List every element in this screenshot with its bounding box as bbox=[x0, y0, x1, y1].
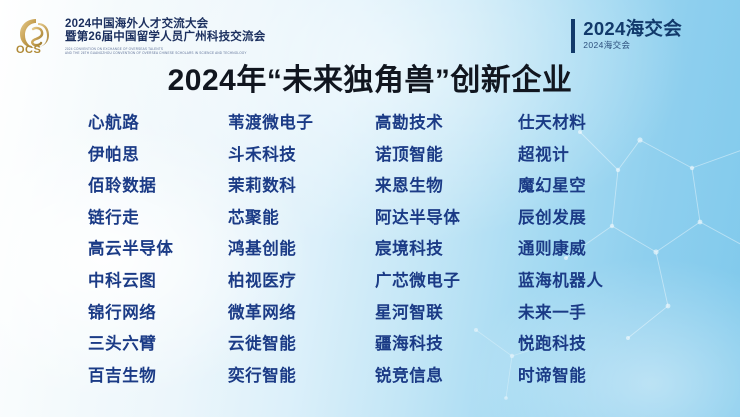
company-name: 超视计 bbox=[518, 140, 700, 172]
company-name: 蓝海机器人 bbox=[518, 266, 700, 298]
company-name: 奕行智能 bbox=[228, 361, 375, 393]
brand-title: 2024海交会 bbox=[583, 18, 682, 39]
event-logo: OCS 2024中国海外人才交流大会 暨第26届中国留学人员广州科技交流会 20… bbox=[16, 17, 265, 56]
company-name: 宸境科技 bbox=[375, 234, 518, 266]
logo-line-1: 2024中国海外人才交流大会 bbox=[65, 18, 265, 31]
company-name: 锦行网络 bbox=[88, 298, 228, 330]
company-name: 时谛智能 bbox=[518, 361, 700, 393]
company-name: 疆海科技 bbox=[375, 329, 518, 361]
company-name: 心航路 bbox=[88, 108, 228, 140]
company-name: 高勘技术 bbox=[375, 108, 518, 140]
company-name: 佰聆数据 bbox=[88, 171, 228, 203]
company-name: 未来一手 bbox=[518, 298, 700, 330]
slide-header: OCS 2024中国海外人才交流大会 暨第26届中国留学人员广州科技交流会 20… bbox=[0, 0, 740, 60]
company-name: 悦跑科技 bbox=[518, 329, 700, 361]
company-name: 斗禾科技 bbox=[228, 140, 375, 172]
company-name: 来恩生物 bbox=[375, 171, 518, 203]
logo-acronym: OCS bbox=[16, 44, 41, 56]
brand-subtitle: 2024海交会 bbox=[583, 39, 682, 51]
company-name: 三头六臂 bbox=[88, 329, 228, 361]
logo-text-block: 2024中国海外人才交流大会 暨第26届中国留学人员广州科技交流会 2024 C… bbox=[65, 17, 265, 56]
company-name: 仕天材料 bbox=[518, 108, 700, 140]
company-name: 阿达半导体 bbox=[375, 203, 518, 235]
company-name: 中科云图 bbox=[88, 266, 228, 298]
company-name: 鸿基创能 bbox=[228, 234, 375, 266]
company-name: 链行走 bbox=[88, 203, 228, 235]
company-name: 锐竞信息 bbox=[375, 361, 518, 393]
logo-line-2: 暨第26届中国留学人员广州科技交流会 bbox=[65, 31, 265, 44]
slide-canvas: OCS 2024中国海外人才交流大会 暨第26届中国留学人员广州科技交流会 20… bbox=[0, 0, 740, 417]
company-name: 微革网络 bbox=[228, 298, 375, 330]
company-name: 魔幻星空 bbox=[518, 171, 700, 203]
company-name: 芯聚能 bbox=[228, 203, 375, 235]
logo-subline-2: AND THE 26TH GUANGZHOU CONVENTION OF OVE… bbox=[65, 51, 265, 56]
company-name: 柏视医疗 bbox=[228, 266, 375, 298]
company-name: 百吉生物 bbox=[88, 361, 228, 393]
event-brand-mark: 2024海交会 2024海交会 bbox=[571, 18, 682, 53]
company-name: 茉莉数科 bbox=[228, 171, 375, 203]
company-name: 通则康威 bbox=[518, 234, 700, 266]
company-name: 诺顶智能 bbox=[375, 140, 518, 172]
company-name: 苇渡微电子 bbox=[228, 108, 375, 140]
brand-accent-bar bbox=[571, 19, 575, 53]
company-name: 伊帕思 bbox=[88, 140, 228, 172]
company-name: 星河智联 bbox=[375, 298, 518, 330]
ocs-emblem-icon: OCS bbox=[16, 17, 58, 55]
company-name: 云徙智能 bbox=[228, 329, 375, 361]
company-name: 高云半导体 bbox=[88, 234, 228, 266]
company-name: 辰创发展 bbox=[518, 203, 700, 235]
company-name: 广芯微电子 bbox=[375, 266, 518, 298]
page-title: 2024年“未来独角兽”创新企业 bbox=[0, 60, 740, 102]
company-name-grid: 心航路苇渡微电子高勘技术仕天材料伊帕思斗禾科技诺顶智能超视计佰聆数据茉莉数科来恩… bbox=[88, 108, 700, 392]
